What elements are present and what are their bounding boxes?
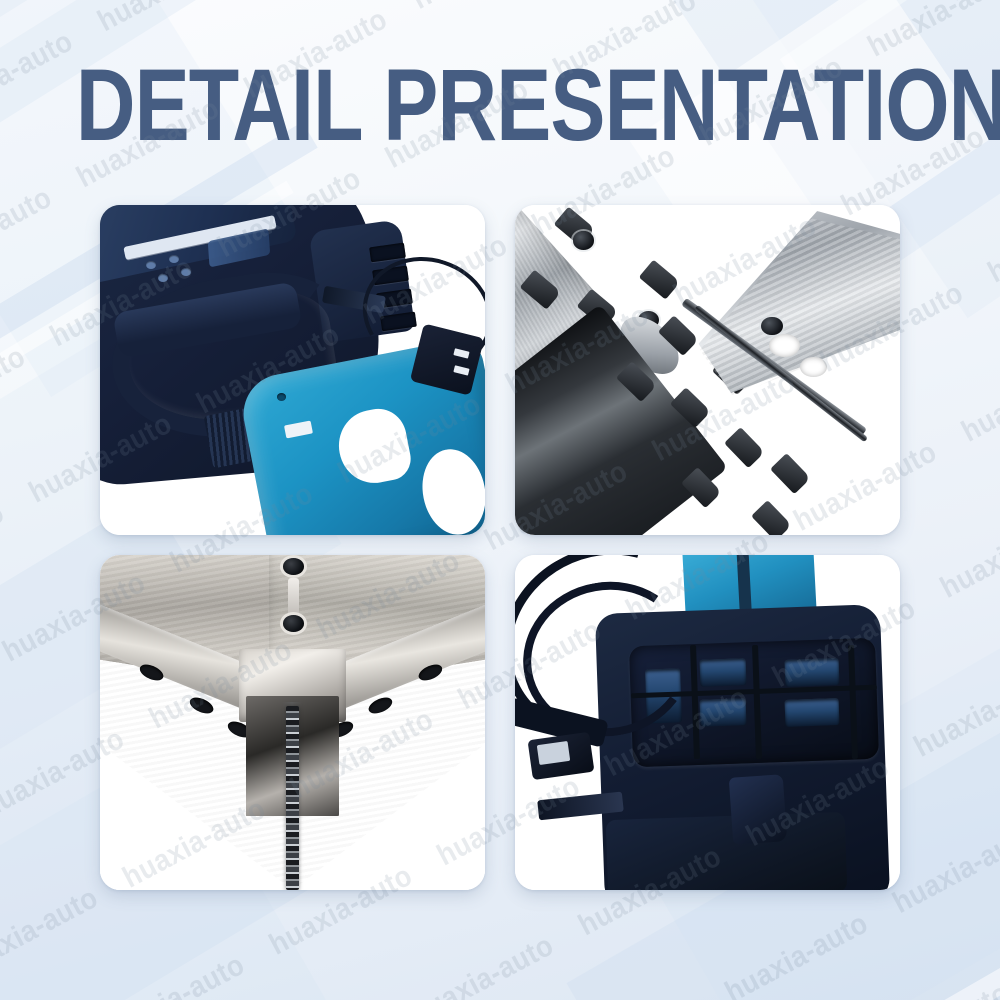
detail-card-bottom-right[interactable] — [515, 555, 900, 890]
tool-trigger-switch — [728, 774, 786, 845]
bg-band-13 — [689, 888, 1000, 1000]
vent-opening-3 — [784, 658, 839, 687]
watermark-text: huaxia-auto — [0, 181, 58, 284]
blade-hole-1 — [769, 334, 800, 357]
watermark-text: huaxia-auto — [888, 817, 1000, 920]
bar-screw-1 — [573, 231, 594, 249]
watermark-text: huaxia-auto — [983, 187, 1000, 290]
adjuster-bolt-top — [283, 558, 304, 575]
watermark-text: huaxia-auto — [0, 340, 31, 443]
vent-grille-cord-photo — [515, 555, 900, 890]
watermark-text: huaxia-auto — [407, 0, 561, 17]
panel-rivet-2 — [169, 255, 179, 263]
tool-body-handle-photo — [100, 205, 485, 535]
watermark-text: huaxia-auto — [552, 996, 706, 1000]
detail-photo-grid — [100, 205, 900, 890]
watermark-text: huaxia-auto — [96, 948, 250, 1000]
detail-card-top-right[interactable] — [515, 205, 900, 535]
watermark-text: huaxia-auto — [0, 881, 104, 984]
watermark-text: huaxia-auto — [861, 976, 1000, 1000]
page-title: DETAIL PRESENTATION — [76, 55, 1000, 157]
watermark-text: huaxia-auto — [720, 907, 874, 1000]
page-title-container: DETAIL PRESENTATION — [0, 58, 1000, 154]
detail-card-bottom-left[interactable] — [100, 555, 485, 890]
watermark-text: huaxia-auto — [405, 929, 559, 1000]
watermark-text: huaxia-auto — [956, 346, 1000, 449]
watermark-text: huaxia-auto — [935, 502, 1000, 605]
watermark-text: huaxia-auto — [909, 661, 1000, 764]
blade-hole-2 — [800, 357, 827, 377]
detail-card-top-left[interactable] — [100, 205, 485, 535]
base-plate-chain-photo — [100, 555, 485, 890]
vent-opening-2 — [699, 658, 746, 686]
chain-guide-bar-photo — [515, 205, 900, 535]
blade-screw — [761, 317, 782, 335]
watermark-text: huaxia-auto — [92, 0, 246, 39]
vent-opening-5 — [784, 698, 839, 727]
cutting-chain — [286, 706, 299, 890]
plug-face-plate — [537, 741, 570, 765]
panel-rivet-4 — [181, 268, 191, 276]
vent-opening-4 — [699, 698, 746, 726]
tool-base-foot — [606, 812, 847, 890]
adjuster-bolt-bottom — [283, 615, 304, 632]
watermark-text: huaxia-auto — [0, 496, 10, 599]
product-detail-page: DETAIL PRESENTATION — [0, 0, 1000, 1000]
